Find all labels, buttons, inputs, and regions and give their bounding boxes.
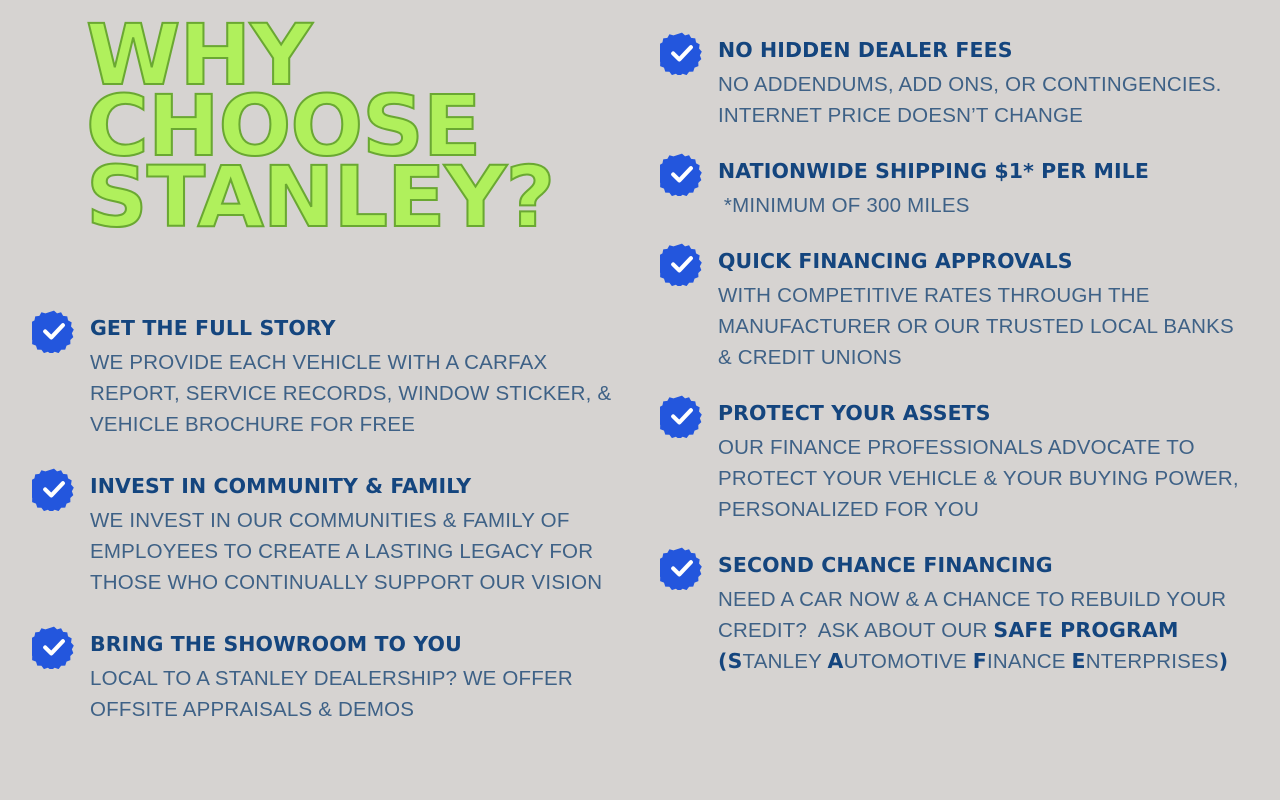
feature-item: PROTECT YOUR ASSETS OUR FINANCE PROFESSI… [660, 395, 1250, 525]
feature-title: INVEST IN COMMUNITY & FAMILY [90, 468, 612, 505]
feature-title: PROTECT YOUR ASSETS [718, 395, 1250, 432]
feature-body: WE PROVIDE EACH VEHICLE WITH A CARFAX RE… [90, 347, 612, 440]
feature-title: NATIONWIDE SHIPPING $1* PER MILE [718, 153, 1250, 190]
verified-check-badge-icon [32, 467, 76, 511]
verified-check-badge-icon [660, 546, 704, 590]
feature-title: BRING THE SHOWROOM TO YOU [90, 626, 612, 663]
feature-item: SECOND CHANCE FINANCING NEED A CAR NOW &… [660, 547, 1250, 677]
feature-item: BRING THE SHOWROOM TO YOU LOCAL TO A STA… [32, 626, 612, 725]
feature-body: WE INVEST IN OUR COMMUNITIES & FAMILY OF… [90, 505, 612, 598]
verified-check-badge-icon [660, 242, 704, 286]
feature-body: *MINIMUM OF 300 MILES [718, 190, 1250, 221]
feature-item: GET THE FULL STORY WE PROVIDE EACH VEHIC… [32, 310, 612, 440]
feature-body: NO ADDENDUMS, ADD ONS, OR CONTINGENCIES.… [718, 69, 1250, 131]
feature-item: NO HIDDEN DEALER FEES NO ADDENDUMS, ADD … [660, 32, 1250, 131]
feature-body: WITH COMPETITIVE RATES THROUGH THE MANUF… [718, 280, 1250, 373]
feature-title: QUICK FINANCING APPROVALS [718, 243, 1250, 280]
feature-title: NO HIDDEN DEALER FEES [718, 32, 1250, 69]
feature-body: OUR FINANCE PROFESSIONALS ADVOCATE TO PR… [718, 432, 1250, 525]
verified-check-badge-icon [32, 625, 76, 669]
verified-check-badge-icon [660, 31, 704, 75]
feature-item: INVEST IN COMMUNITY & FAMILY WE INVEST I… [32, 468, 612, 598]
feature-body: LOCAL TO A STANLEY DEALERSHIP? WE OFFER … [90, 663, 612, 725]
feature-title: GET THE FULL STORY [90, 310, 612, 347]
verified-check-badge-icon [660, 152, 704, 196]
feature-item: NATIONWIDE SHIPPING $1* PER MILE *MINIMU… [660, 153, 1250, 221]
verified-check-badge-icon [660, 394, 704, 438]
feature-title: SECOND CHANCE FINANCING [718, 547, 1250, 584]
features-column-right: NO HIDDEN DEALER FEES NO ADDENDUMS, ADD … [660, 32, 1250, 699]
page-title: WHY CHOOSE STANLEY? [86, 20, 606, 233]
why-choose-stanley-poster: WHY CHOOSE STANLEY? GET THE FULL STORY W… [0, 0, 1280, 800]
features-column-left: GET THE FULL STORY WE PROVIDE EACH VEHIC… [32, 310, 612, 753]
headline-line-3: STANLEY? [86, 162, 616, 233]
verified-check-badge-icon [32, 309, 76, 353]
feature-body: NEED A CAR NOW & A CHANCE TO REBUILD YOU… [718, 584, 1250, 677]
feature-item: QUICK FINANCING APPROVALS WITH COMPETITI… [660, 243, 1250, 373]
